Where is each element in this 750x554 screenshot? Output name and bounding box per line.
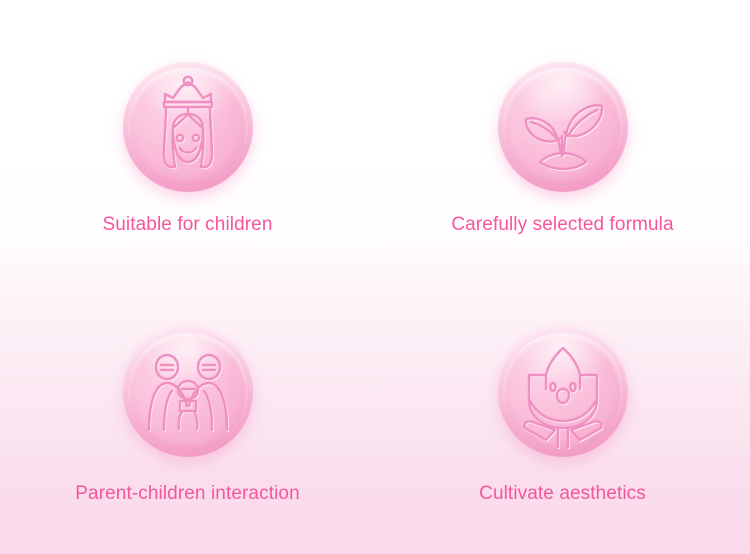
feature-grid: Suitable for children	[0, 0, 750, 554]
feature-item-parent-children-interaction[interactable]: Parent-children interaction	[0, 277, 375, 554]
feature-item-carefully-selected-formula[interactable]: Carefully selected formula	[375, 0, 750, 277]
feature-label: Carefully selected formula	[451, 214, 673, 236]
feature-icon-badge[interactable]	[498, 327, 628, 457]
feature-label: Parent-children interaction	[75, 483, 299, 505]
feature-label: Cultivate aesthetics	[479, 483, 646, 505]
feature-icon-badge[interactable]	[498, 62, 628, 192]
feature-icon-badge[interactable]	[123, 62, 253, 192]
feature-label: Suitable for children	[102, 214, 272, 236]
family-parents-child-icon	[123, 327, 253, 457]
feature-item-cultivate-aesthetics[interactable]: Cultivate aesthetics	[375, 277, 750, 554]
feature-item-suitable-for-children[interactable]: Suitable for children	[0, 0, 375, 277]
sprout-seedling-icon	[498, 62, 628, 192]
feature-icon-badge[interactable]	[123, 327, 253, 457]
smiling-flower-icon	[498, 327, 628, 457]
princess-girl-icon	[123, 62, 253, 192]
